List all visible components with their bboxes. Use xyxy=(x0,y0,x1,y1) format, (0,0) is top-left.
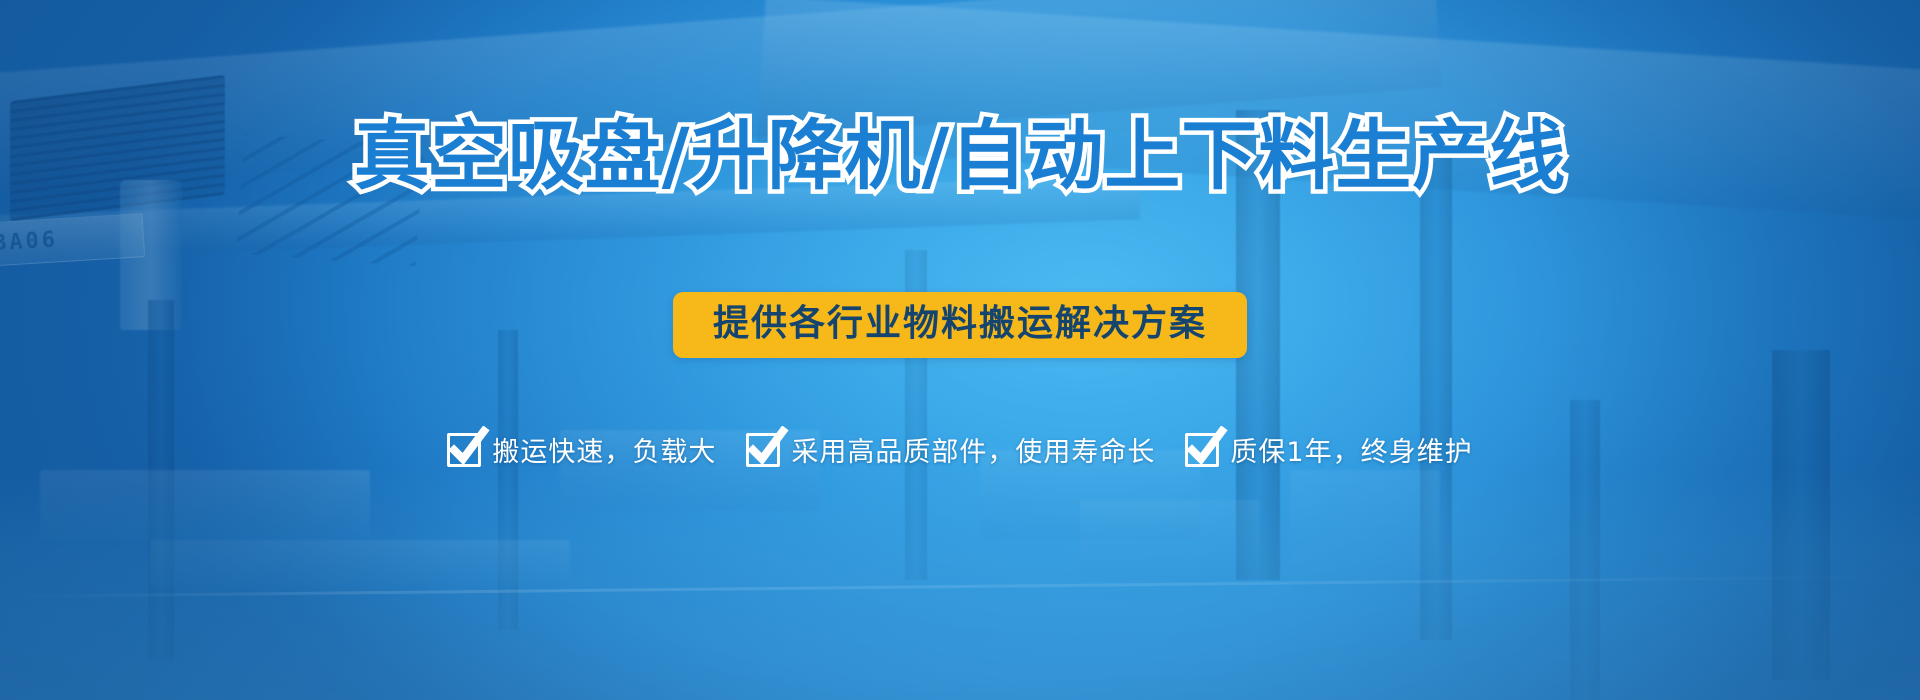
feature-label: 采用高品质部件，使用寿命长 xyxy=(791,430,1155,469)
feature-item: 质保1年，终身维护 xyxy=(1185,430,1472,469)
banner-subtitle-pill: 提供各行业物料搬运解决方案 xyxy=(673,292,1247,358)
feature-list: 搬运快速，负载大 采用高品质部件，使用寿命长 质保1年，终身维护 xyxy=(0,430,1920,469)
checkbox-checked-icon xyxy=(1185,433,1219,467)
checkbox-checked-icon xyxy=(447,433,481,467)
feature-label: 质保1年，终身维护 xyxy=(1230,430,1472,469)
feature-item: 采用高品质部件，使用寿命长 xyxy=(746,430,1155,469)
feature-item: 搬运快速，负载大 xyxy=(447,430,716,469)
banner-headline: 真空吸盘/升降机/自动上下料生产线 xyxy=(0,118,1920,194)
hero-banner: BA06 真空吸盘/升降机/自动上下料生产线 提供各行业物料搬运解决方案 搬运快… xyxy=(0,0,1920,700)
banner-subtitle-container: 提供各行业物料搬运解决方案 xyxy=(0,292,1920,358)
banner-content: 真空吸盘/升降机/自动上下料生产线 提供各行业物料搬运解决方案 搬运快速，负载大 xyxy=(0,0,1920,700)
feature-label: 搬运快速，负载大 xyxy=(492,430,716,469)
checkbox-checked-icon xyxy=(746,433,780,467)
